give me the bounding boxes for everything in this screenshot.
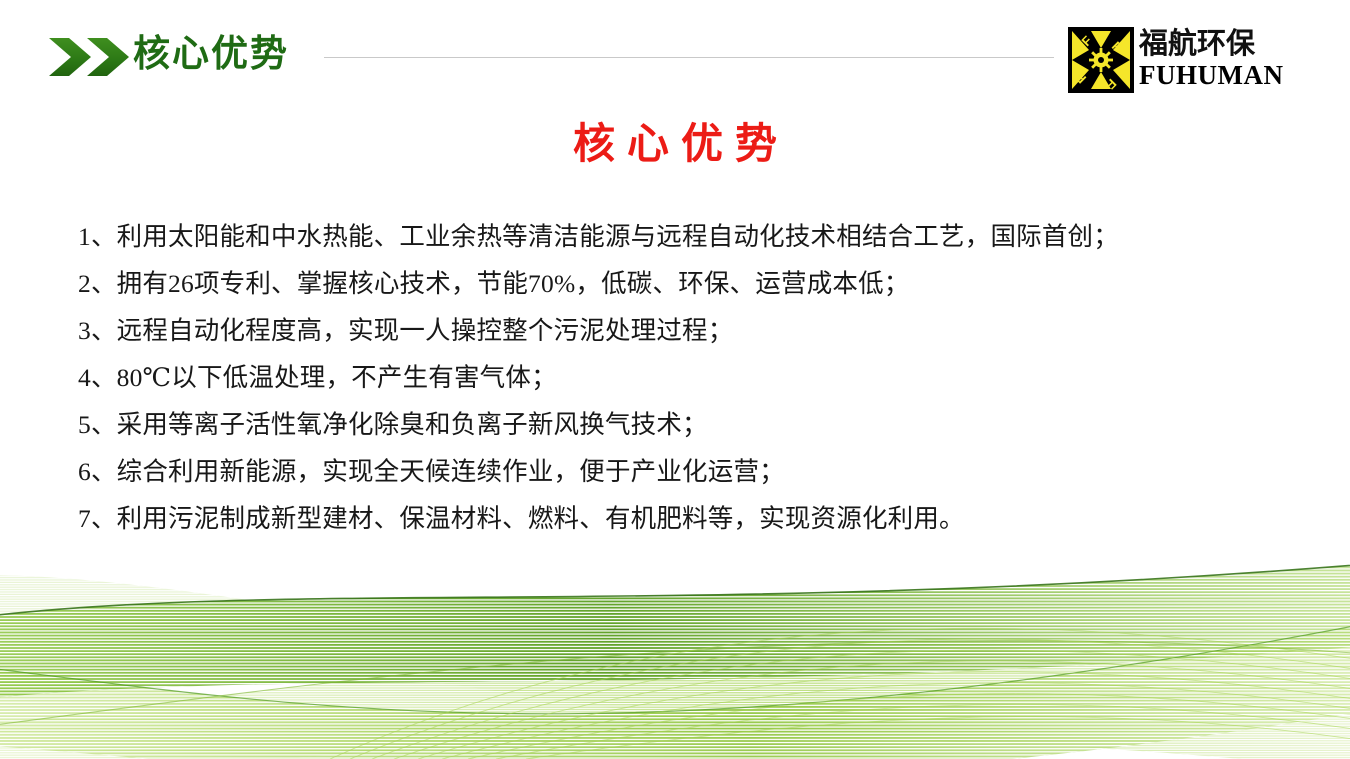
company-logo: F F F F (1067, 26, 1272, 94)
header-divider (324, 57, 1054, 58)
advantages-list: 1、利用太阳能和中水热能、工业余热等清洁能源与远程自动化技术相结合工艺，国际首创… (78, 213, 1288, 542)
list-item: 2、拥有26项专利、掌握核心技术，节能70%，低碳、环保、运营成本低； (78, 260, 1288, 307)
slide: 核心优势 F F F F (0, 0, 1350, 759)
page-title: 核心优势 (133, 31, 289, 78)
list-item: 3、远程自动化程度高，实现一人操控整个污泥处理过程； (78, 307, 1288, 354)
slide-header: 核心优势 F F F F (0, 0, 1350, 100)
logo-en-name: FUHUMAN (1139, 60, 1283, 91)
list-item: 1、利用太阳能和中水热能、工业余热等清洁能源与远程自动化技术相结合工艺，国际首创… (78, 213, 1288, 260)
list-item: 5、采用等离子活性氧净化除臭和负离子新风换气技术； (78, 401, 1288, 448)
list-item: 6、综合利用新能源，实现全天候连续作业，便于产业化运营； (78, 448, 1288, 495)
main-title: 核心优势 (0, 118, 1350, 172)
list-item: 7、利用污泥制成新型建材、保温材料、燃料、有机肥料等，实现资源化利用。 (78, 495, 1288, 542)
logo-cn-name: 福航环保 (1139, 27, 1255, 61)
green-ribbon-waves-decoration (0, 559, 1350, 759)
list-item: 4、80℃以下低温处理，不产生有害气体； (78, 354, 1288, 401)
logo-wordmark: 福航环保 FUHUMAN (1139, 27, 1272, 93)
fuhuman-square-mark-icon: F F F F (1067, 26, 1135, 94)
double-chevron-right-icon (47, 36, 131, 78)
